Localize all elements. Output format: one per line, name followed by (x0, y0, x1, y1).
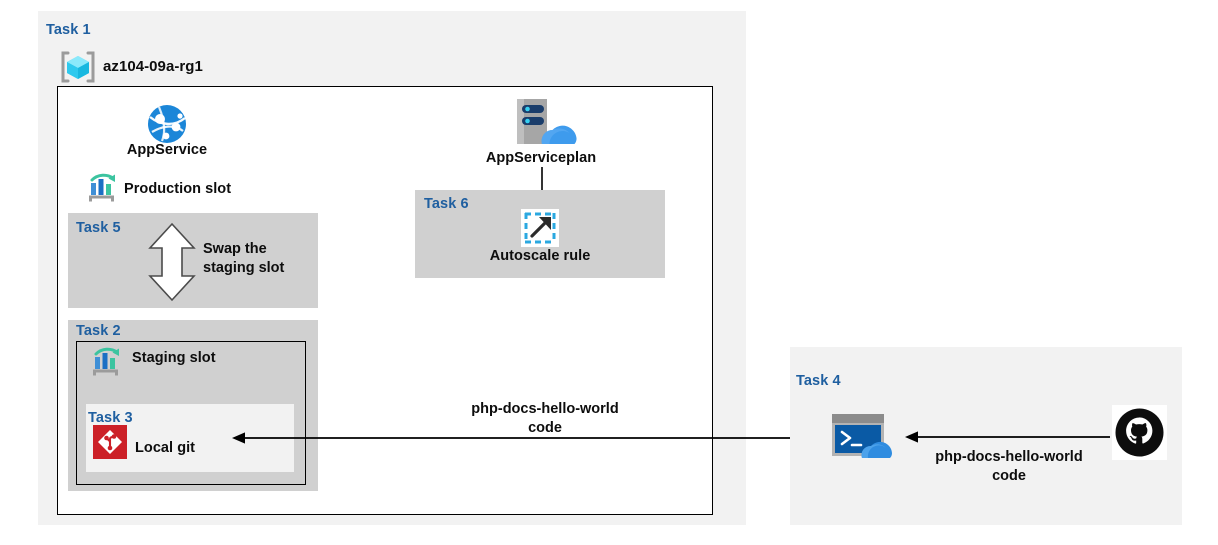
task3-label: Task 3 (88, 410, 133, 426)
resource-group-cube-icon (60, 50, 96, 84)
github-to-cloudshell-label: php-docs-hello-world code (895, 448, 1123, 486)
swap-label: Swap the staging slot (203, 240, 313, 278)
staging-slot-label: Staging slot (132, 350, 216, 366)
resource-group-label: az104-09a-rg1 (103, 58, 203, 75)
production-slot-label: Production slot (124, 181, 231, 197)
app-service-plan-icon (509, 97, 577, 149)
task1-label: Task 1 (46, 22, 91, 38)
github-to-cloudshell-arrow (905, 427, 1110, 447)
github-code-label-line1: php-docs-hello-world (895, 448, 1123, 467)
swap-double-arrow-icon (146, 222, 198, 302)
app-service-plan-label: AppServiceplan (415, 150, 667, 166)
autoscale-rule-label: Autoscale rule (415, 248, 665, 264)
app-service-globe-icon (146, 103, 188, 145)
local-git-label: Local git (135, 440, 195, 456)
task6-label: Task 6 (424, 196, 469, 212)
github-code-label-line2: code (895, 467, 1123, 486)
task5-label: Task 5 (76, 220, 121, 236)
diagram-canvas: Task 1 az104-09a-rg1 AppService (0, 0, 1218, 545)
deployment-slot-icon (88, 173, 120, 203)
task4-label: Task 4 (796, 373, 841, 389)
task2-label: Task 2 (76, 323, 121, 339)
local-git-icon (93, 425, 127, 459)
code-label-line1: php-docs-hello-world (410, 400, 680, 419)
swap-label-line2: staging slot (203, 259, 313, 278)
autoscale-rule-icon (521, 209, 559, 247)
cloud-shell-icon (832, 414, 898, 458)
cloudshell-to-localgit-arrow (232, 428, 822, 448)
swap-label-line1: Swap the (203, 240, 313, 259)
deployment-slot-icon (92, 347, 124, 377)
app-service-label: AppService (0, 142, 334, 158)
